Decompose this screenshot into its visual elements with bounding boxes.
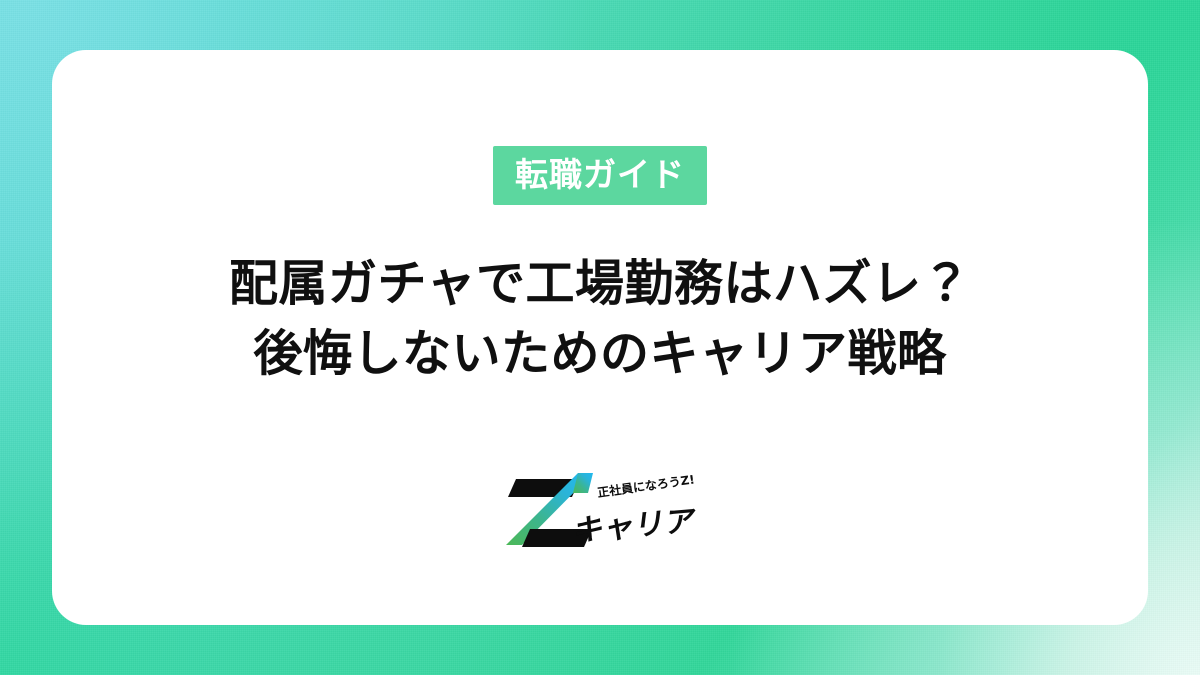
page-title-line-2: 後悔しないためのキャリア戦略 bbox=[229, 319, 971, 389]
ogp-canvas: 転職ガイド 配属ガチャで工場勤務はハズレ？ 後悔しないためのキャリア戦略 bbox=[0, 0, 1200, 675]
logo-tagline-text: 正社員になろうZ! bbox=[596, 471, 695, 500]
brand-logo: 正社員になろうZ! キャリア bbox=[500, 469, 700, 551]
brand-logo-artwork: 正社員になろうZ! キャリア bbox=[500, 469, 700, 551]
logo-wordmark-text: キャリア bbox=[572, 504, 698, 549]
category-badge: 転職ガイド bbox=[493, 146, 707, 205]
page-title-line-1: 配属ガチャで工場勤務はハズレ？ bbox=[229, 249, 971, 319]
page-title: 配属ガチャで工場勤務はハズレ？ 後悔しないためのキャリア戦略 bbox=[229, 249, 971, 388]
article-card: 転職ガイド 配属ガチャで工場勤務はハズレ？ 後悔しないためのキャリア戦略 bbox=[52, 50, 1148, 625]
